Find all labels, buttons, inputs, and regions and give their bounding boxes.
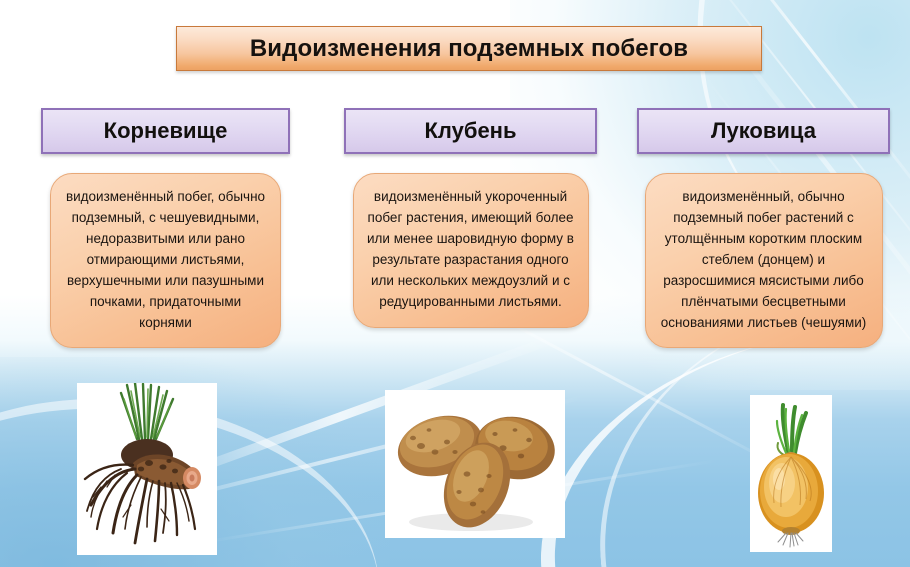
card-header-label: Клубень <box>425 118 517 144</box>
card-header-label: Корневище <box>104 118 228 144</box>
card-header-label: Луковица <box>711 118 816 144</box>
column-bulb: Луковица видоизменённый, обычно подземны… <box>637 108 890 348</box>
column-rhizome: Корневище видоизменённый побег, обычно п… <box>41 108 290 348</box>
card-body-bulb: видоизменённый, обычно подземный побег р… <box>645 173 883 348</box>
column-tuber: Клубень видоизменённый укороченный побег… <box>344 108 597 328</box>
card-header-rhizome[interactable]: Корневище <box>41 108 290 154</box>
page-title: Видоизменения подземных побегов <box>250 35 688 63</box>
slide-canvas: Видоизменения подземных побегов Корневищ… <box>0 0 910 567</box>
rhizome-photo <box>77 383 217 555</box>
potato-tuber-photo <box>385 390 565 538</box>
card-body-rhizome: видоизменённый побег, обычно подземный, … <box>50 173 281 348</box>
card-body-tuber: видоизменённый укороченный побег растени… <box>353 173 589 328</box>
slide-title-banner: Видоизменения подземных побегов <box>176 26 762 71</box>
card-header-tuber[interactable]: Клубень <box>344 108 597 154</box>
onion-bulb-photo <box>750 395 832 552</box>
card-header-bulb[interactable]: Луковица <box>637 108 890 154</box>
